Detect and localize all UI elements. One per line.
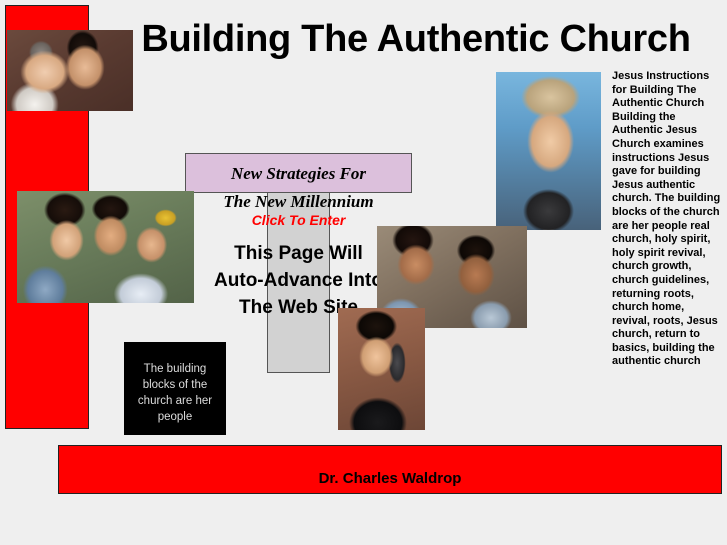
new-millennium-line: The New Millennium xyxy=(185,191,412,213)
new-strategies-banner[interactable]: New Strategies For xyxy=(185,153,412,193)
photo-elderly-woman xyxy=(496,72,601,230)
footer-red-bar: Dr. Charles Waldrop xyxy=(58,445,722,494)
photo-couple-talking xyxy=(7,30,133,111)
page-root: Building The Authentic Church Jesus Inst… xyxy=(0,0,727,545)
building-blocks-line-3: church are her xyxy=(124,393,226,409)
keywords-paragraph: Jesus Instructions for Building The Auth… xyxy=(612,70,724,369)
building-blocks-box: The building blocks of the church are he… xyxy=(124,342,226,435)
building-blocks-line-1: The building xyxy=(124,361,226,377)
footer-author-name: Dr. Charles Waldrop xyxy=(59,470,721,487)
building-blocks-line-2: blocks of the xyxy=(124,377,226,393)
photo-family xyxy=(17,191,194,303)
page-title: Building The Authentic Church xyxy=(128,16,704,62)
photo-woman-phone xyxy=(338,308,425,430)
building-blocks-line-4: people xyxy=(124,409,226,425)
